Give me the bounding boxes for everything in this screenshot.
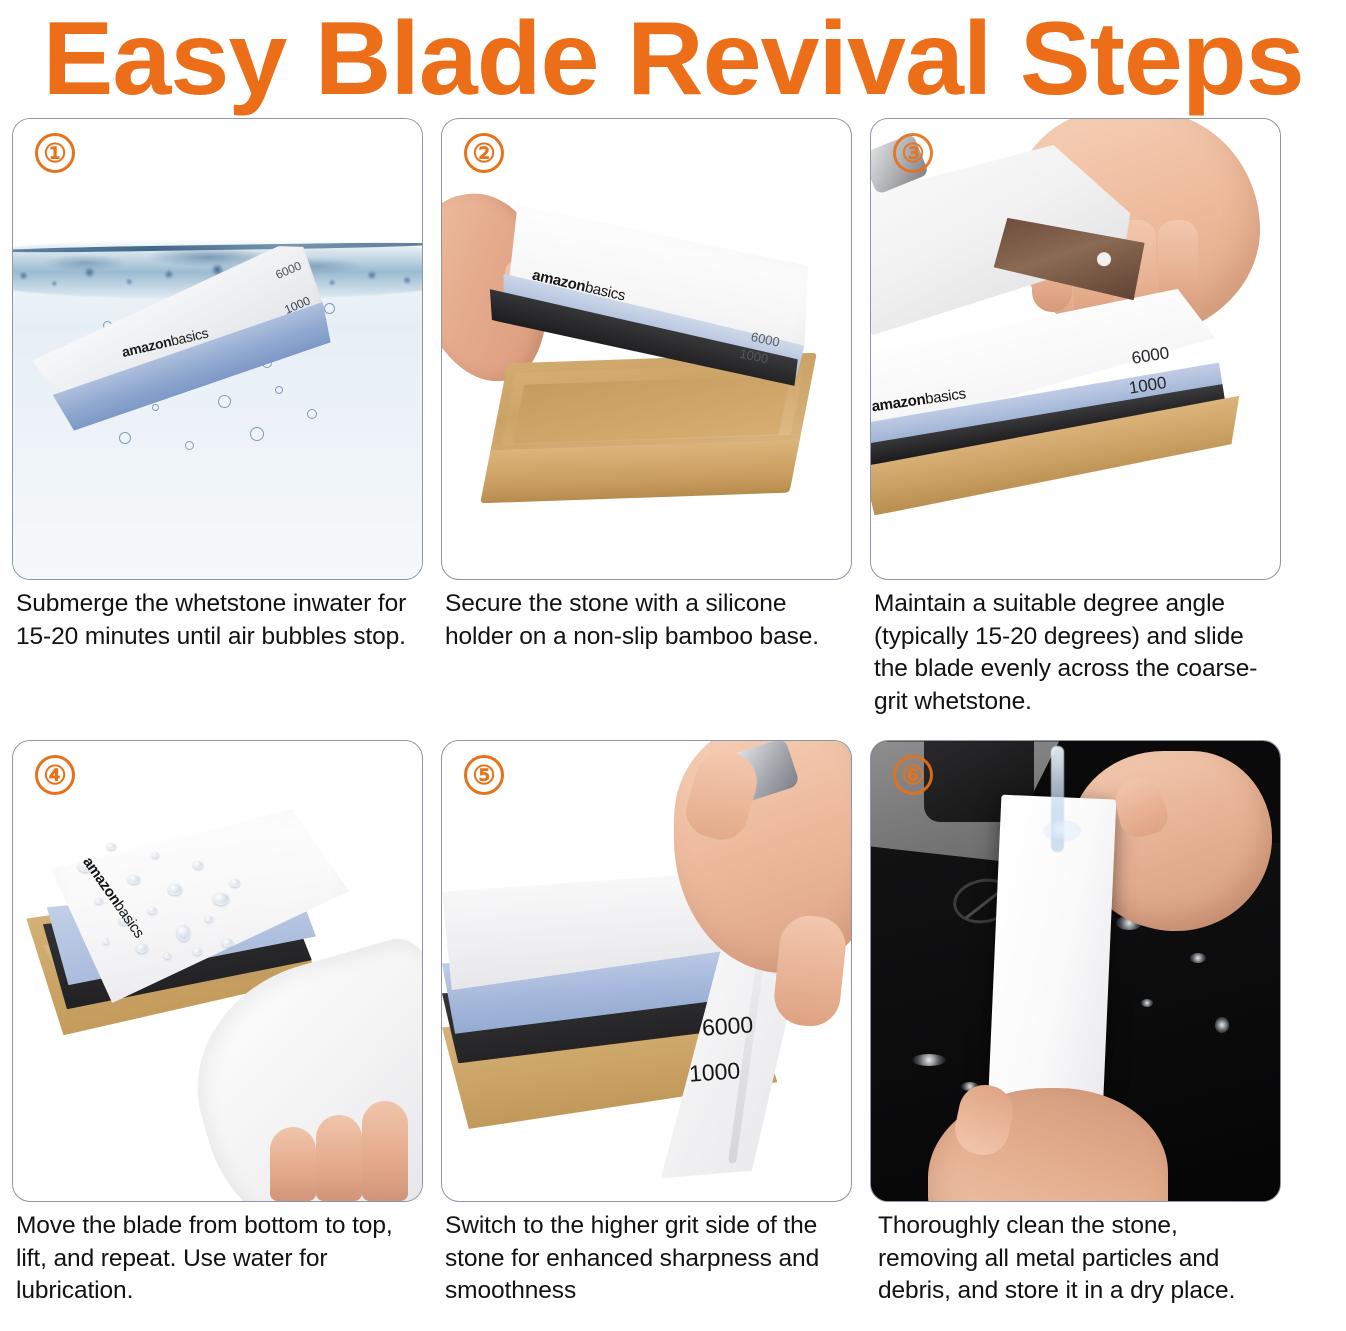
step-caption-5: Switch to the higher grit side of the st… <box>441 1210 852 1308</box>
water-splash <box>1043 820 1081 842</box>
step-photo-1: 6000 1000 amazonbasics ① <box>12 118 423 580</box>
step-badge-3: ③ <box>893 133 933 173</box>
step-card-1: 6000 1000 amazonbasics ① Submerge the wh… <box>12 118 423 718</box>
water-droplet <box>95 898 103 904</box>
grit-label-coarse: 1000 <box>689 1057 742 1088</box>
grit-label-fine: 6000 <box>701 1011 754 1042</box>
finger <box>362 1101 408 1201</box>
finger <box>771 913 848 1029</box>
water-droplet <box>136 944 148 953</box>
fingers <box>234 1091 414 1201</box>
grit-label-fine: 6000 <box>1130 344 1170 370</box>
water-droplet <box>193 861 203 869</box>
finger <box>316 1115 362 1201</box>
whetstone: amazonbasics 6000 1000 <box>870 285 1235 520</box>
step-card-3: amazonbasics 6000 1000 ③ Maintain a suit… <box>870 118 1281 718</box>
step-caption-2: Secure the stone with a silicone holder … <box>441 588 852 653</box>
step-caption-4: Move the blade from bottom to top, lift,… <box>12 1210 423 1308</box>
water-droplet <box>152 852 159 858</box>
step-card-2: amazonbasics 6000 1000 ② Secure the ston… <box>441 118 852 718</box>
water-sparkle <box>1141 999 1153 1007</box>
step-photo-2: amazonbasics 6000 1000 ② <box>441 118 852 580</box>
step-badge-4: ④ <box>35 755 75 795</box>
bubble-icon <box>275 386 283 394</box>
water-droplet <box>222 939 233 947</box>
bubble-icon <box>185 441 194 450</box>
step-photo-3: amazonbasics 6000 1000 ③ <box>870 118 1281 580</box>
row-spacer <box>12 718 1281 740</box>
step-photo-5: 6000 1000 ⑤ <box>441 740 852 1202</box>
bamboo-base-front <box>480 440 799 504</box>
water-droplet <box>128 875 140 884</box>
water-sparkle <box>912 1054 946 1066</box>
step-card-6: ⑥ Thoroughly clean the stone, removing a… <box>870 740 1281 1308</box>
page-title-bar: Easy Blade Revival Steps <box>0 0 1346 118</box>
step-card-5: 6000 1000 ⑤ Switch to the higher grit si… <box>441 740 852 1308</box>
step-photo-6: ⑥ <box>870 740 1281 1202</box>
water-sparkle <box>1215 1017 1229 1033</box>
water-droplet <box>177 925 190 941</box>
step-caption-6: Thoroughly clean the stone, removing all… <box>870 1210 1281 1308</box>
step-card-4: amazonbasics ④ Move the blade from botto… <box>12 740 423 1308</box>
steps-grid: 6000 1000 amazonbasics ① Submerge the wh… <box>0 118 1346 1308</box>
water-droplet <box>148 907 157 914</box>
step-caption-1: Submerge the whetstone inwater for 15-20… <box>12 588 423 653</box>
water-droplet <box>107 843 116 850</box>
step-badge-1: ① <box>35 133 75 173</box>
step-photo-4: amazonbasics ④ <box>12 740 423 1202</box>
step-badge-2: ② <box>464 133 504 173</box>
step-badge-5: ⑤ <box>464 755 504 795</box>
finger <box>270 1127 316 1201</box>
step-caption-3: Maintain a suitable degree angle (typica… <box>870 588 1281 718</box>
page-title: Easy Blade Revival Steps <box>43 7 1304 111</box>
bubble-icon <box>218 395 231 408</box>
water-sparkle <box>1190 953 1206 963</box>
